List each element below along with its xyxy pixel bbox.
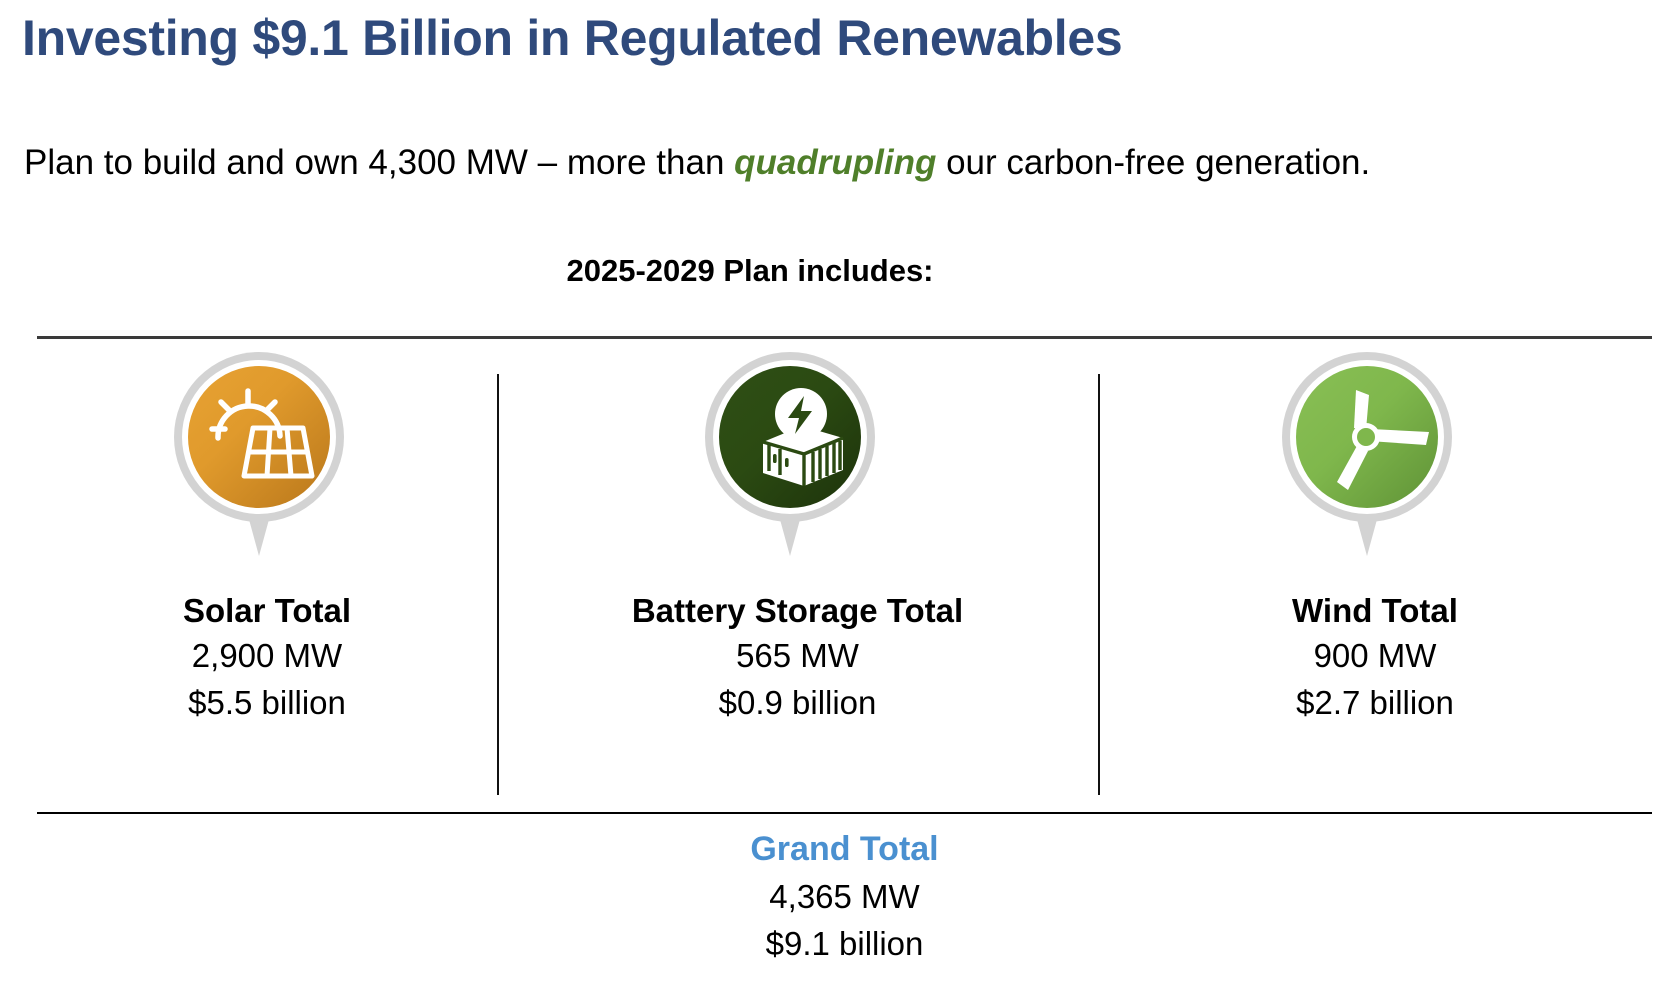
column-solar: Solar Total 2,900 MW $5.5 billion: [37, 352, 497, 752]
divider-top: [37, 336, 1652, 339]
grand-total-label: Grand Total: [37, 826, 1652, 873]
page-title: Investing $9.1 Billion in Regulated Rene…: [22, 8, 1622, 68]
subtitle-text-after: our carbon-free generation.: [936, 143, 1370, 182]
battery-total-label: Battery Storage Total: [632, 590, 963, 632]
solar-pin: [174, 352, 360, 564]
subtitle: Plan to build and own 4,300 MW – more th…: [24, 140, 1634, 186]
battery-storage-container-icon: [719, 366, 861, 508]
column-battery-storage: Battery Storage Total 565 MW $0.9 billio…: [497, 352, 1098, 752]
wind-capacity-value: 900 MW: [1314, 632, 1437, 679]
wind-pin: [1282, 352, 1468, 564]
wind-investment-value: $2.7 billion: [1296, 679, 1454, 726]
subtitle-text-before: Plan to build and own 4,300 MW – more th…: [24, 143, 734, 182]
solar-panel-icon: [188, 366, 330, 508]
solar-capacity-value: 2,900 MW: [192, 632, 342, 679]
solar-total-label: Solar Total: [183, 590, 351, 632]
battery-capacity-value: 565 MW: [736, 632, 859, 679]
wind-turbine-icon: [1296, 366, 1438, 508]
grand-total-investment-value: $9.1 billion: [37, 920, 1652, 967]
divider-bottom: [37, 812, 1652, 814]
column-wind: Wind Total 900 MW $2.7 billion: [1098, 352, 1652, 752]
solar-investment-value: $5.5 billion: [188, 679, 346, 726]
grand-total-capacity-value: 4,365 MW: [37, 873, 1652, 920]
wind-total-label: Wind Total: [1292, 590, 1458, 632]
battery-pin: [705, 352, 891, 564]
totals-columns: Solar Total 2,900 MW $5.5 billion: [37, 352, 1652, 752]
battery-investment-value: $0.9 billion: [719, 679, 877, 726]
plan-heading: 2025-2029 Plan includes:: [0, 251, 1500, 291]
subtitle-highlight-quadrupling: quadrupling: [734, 143, 936, 182]
grand-total-section: Grand Total 4,365 MW $9.1 billion: [37, 826, 1652, 967]
